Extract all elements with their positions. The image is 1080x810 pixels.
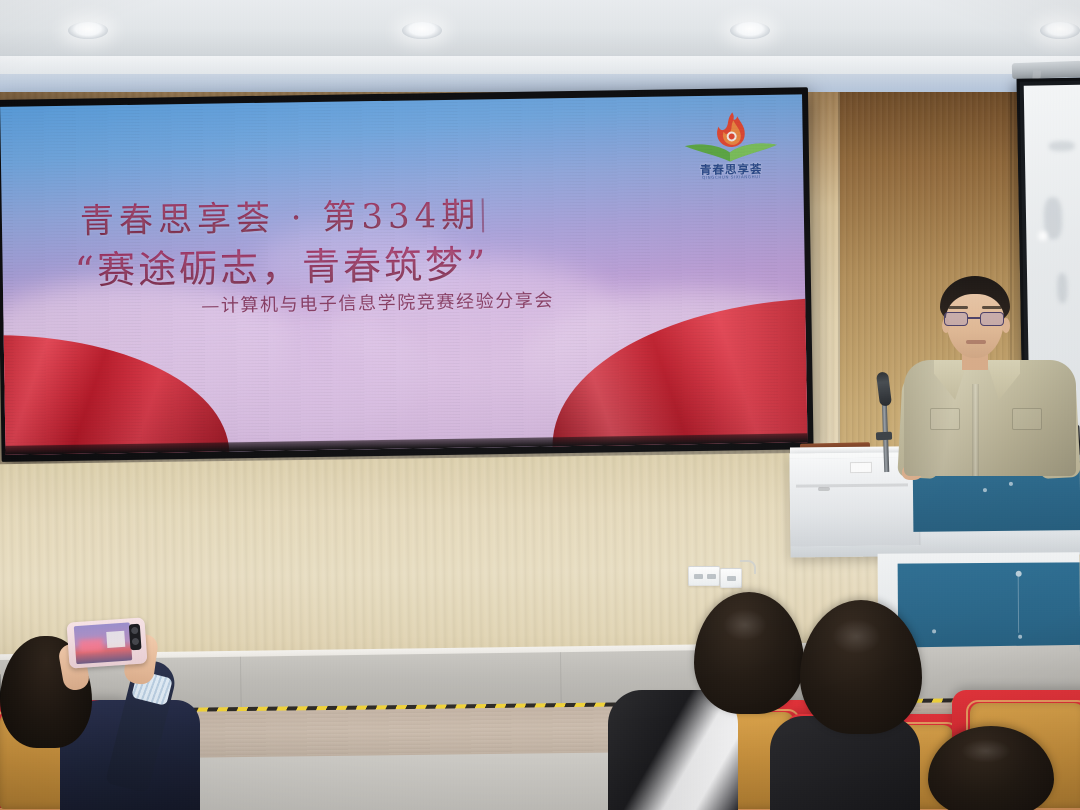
power-socket-icon-1	[688, 566, 720, 586]
speaker-jacket-placket	[972, 384, 979, 476]
downlight-icon-2	[402, 22, 442, 39]
led-display-wall: 青春思享荟 QINGCHUN SIXIANGHUI 青春思享荟 · 第334期 …	[0, 87, 814, 462]
downlight-icon-3	[730, 22, 770, 39]
screen-highlight	[1038, 231, 1047, 240]
microphone-clip	[876, 432, 892, 441]
glasses-icon	[944, 312, 1006, 326]
speaker-brow-left	[948, 306, 968, 309]
screen-roller-housing	[1012, 61, 1080, 79]
speaker-pocket-right	[1012, 408, 1042, 430]
phone-camera-module	[129, 624, 142, 651]
speaker-brow-right	[982, 306, 1002, 309]
speaker-pocket-left	[930, 408, 960, 430]
led-vignette	[0, 94, 807, 455]
presentation-slide: 青春思享荟 QINGCHUN SIXIANGHUI 青春思享荟 · 第334期 …	[0, 94, 807, 455]
podium-label-tag	[850, 462, 872, 473]
auditorium-photo-scene: 青春思享荟 QINGCHUN SIXIANGHUI 青春思享荟 · 第334期 …	[0, 0, 1080, 810]
speaker-person	[900, 276, 1080, 476]
screen-smudge	[1049, 141, 1075, 151]
smartphone-icon[interactable]	[66, 617, 147, 668]
speaker-mouth	[966, 340, 986, 344]
podium-drawer-handle[interactable]	[818, 487, 830, 491]
speaker-face	[946, 294, 1004, 358]
socket-cable	[740, 560, 756, 574]
downlight-icon-1	[68, 22, 108, 39]
power-socket-icon-2	[720, 568, 742, 588]
phone-viewfinder[interactable]	[74, 622, 133, 664]
downlight-icon-4	[1040, 22, 1080, 39]
